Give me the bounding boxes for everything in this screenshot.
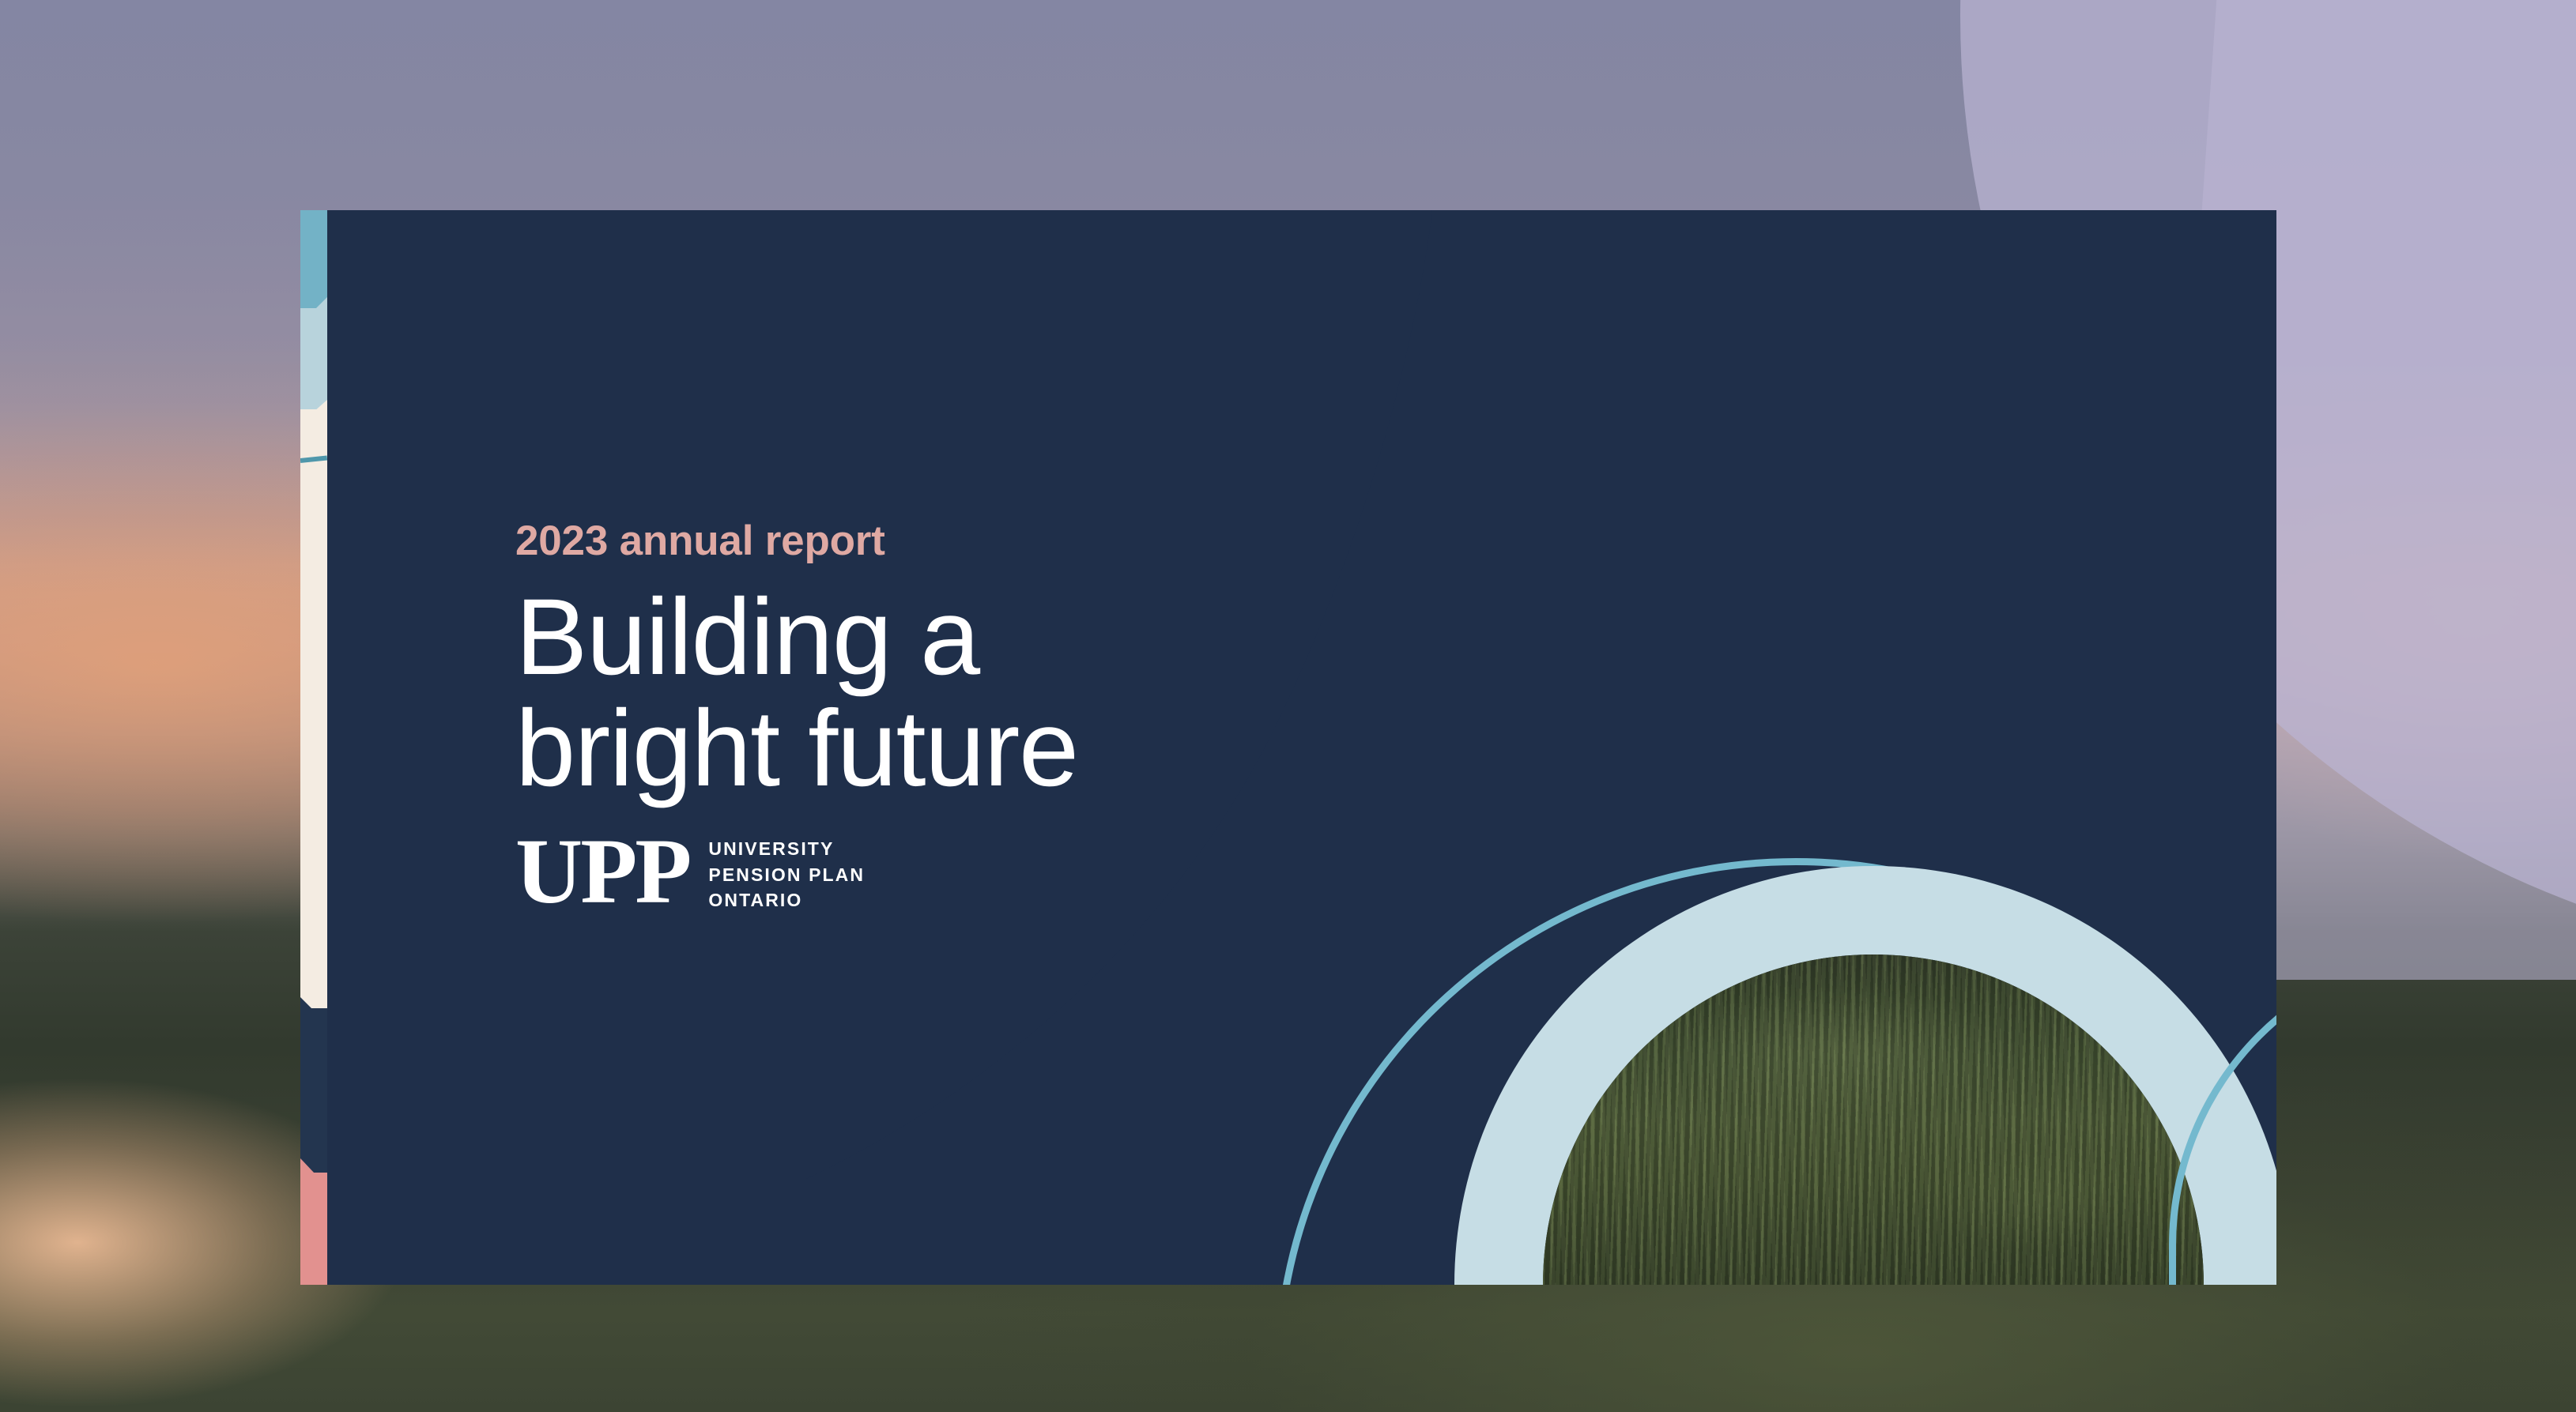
page-title: Building a bright future [515,582,1078,804]
spine-band-teal [300,210,327,314]
report-cover-card: 2023 annual report Building a bright fut… [300,210,2276,1285]
spine-band-light-blue [300,308,327,414]
upp-wordmark: UPP [515,825,689,918]
cover-content: 2023 annual report Building a bright fut… [515,210,1464,1285]
arch-photo-window [1543,955,2204,1285]
arch-forest-texture [1543,955,2204,1285]
spine-band-pink [300,1173,327,1285]
upp-logo-line-3: ONTARIO [708,887,865,913]
spine-band-cream [300,409,327,1015]
upp-logo-subtext: UNIVERSITY PENSION PLAN ONTARIO [708,836,865,913]
arch-window-photo [1543,955,2204,1285]
report-eyebrow: 2023 annual report [515,517,885,565]
upp-logo: UPP UNIVERSITY PENSION PLAN ONTARIO [515,825,865,918]
color-band-spine [300,210,327,1285]
upp-logo-line-2: PENSION PLAN [708,862,865,888]
upp-logo-line-1: UNIVERSITY [708,836,865,862]
